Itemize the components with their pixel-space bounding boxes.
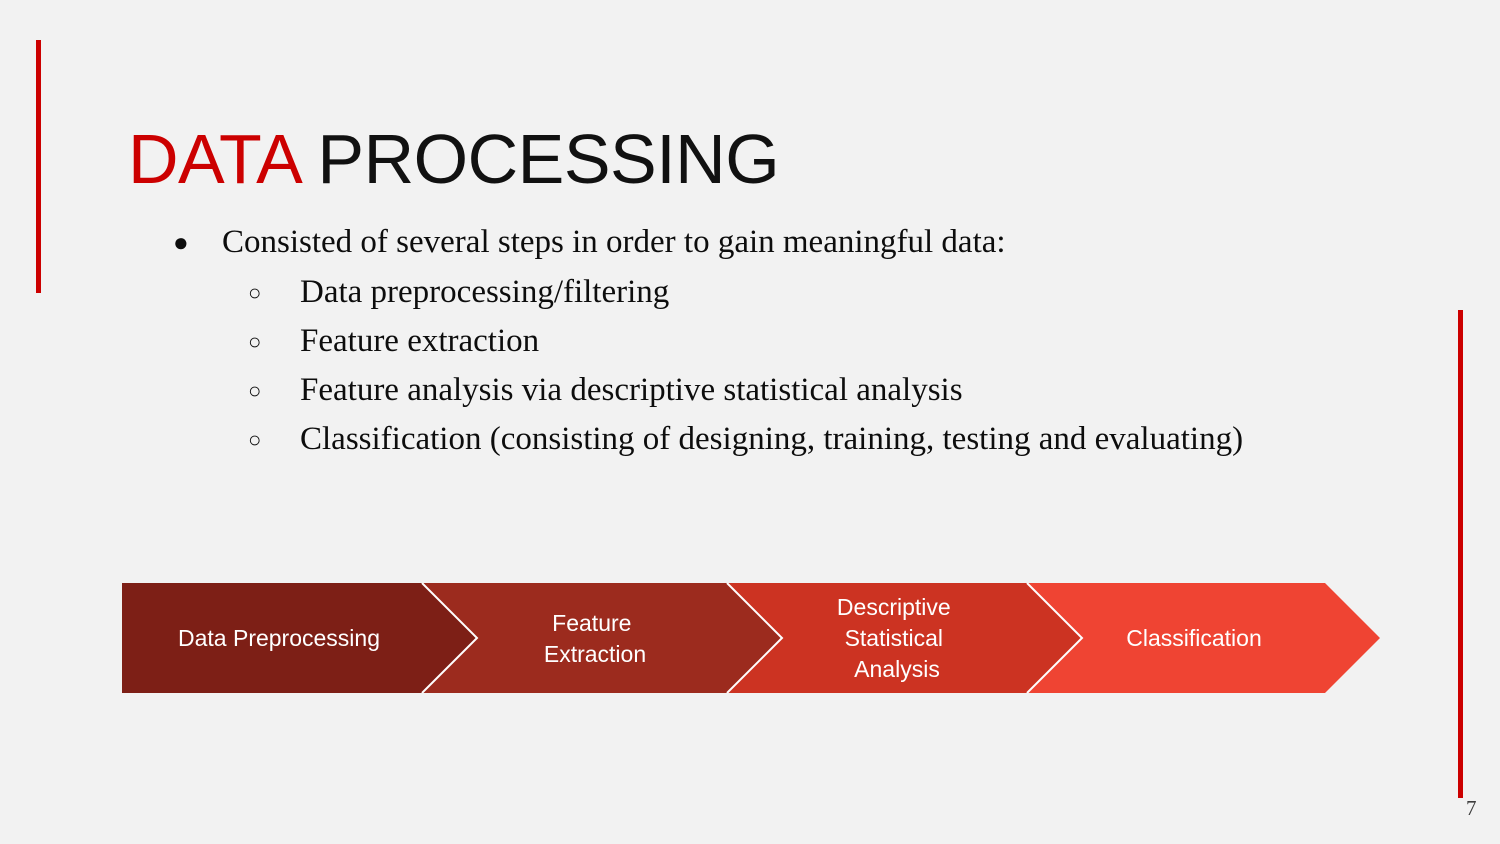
title-rest-word: PROCESSING: [298, 120, 779, 198]
process-step-label-3-line-2: Statistical: [845, 625, 943, 651]
bullet-marker-hollow-icon: ○: [248, 268, 261, 317]
process-step-label-2-line-1: Feature: [552, 610, 631, 636]
decorative-rule-left: [36, 40, 41, 293]
body-bullet-list: ● Consisted of several steps in order to…: [160, 218, 1340, 464]
sub-bullet-list: ○ Data preprocessing/filtering ○ Feature…: [160, 268, 1340, 464]
process-step-label-4: Classification: [1126, 625, 1262, 651]
process-diagram: Data Preprocessing Feature Extraction De…: [122, 583, 1380, 693]
process-step-label-1: Data Preprocessing: [178, 625, 380, 651]
bullet-item-lead: ● Consisted of several steps in order to…: [160, 218, 1340, 267]
process-step-label-3-line-3: Analysis: [854, 656, 940, 682]
sub-bullet-item-classification: ○ Classification (consisting of designin…: [160, 415, 1340, 464]
process-step-label-2-line-2: Extraction: [544, 641, 646, 667]
bullet-marker-filled-icon: ●: [173, 218, 189, 267]
sub-bullet-text-classification: Classification (consisting of designing,…: [300, 421, 1243, 457]
process-step-label-4-line-1: Classification: [1126, 625, 1262, 651]
slide-canvas: DATA PROCESSING ● Consisted of several s…: [0, 0, 1500, 844]
page-title: DATA PROCESSING: [128, 119, 779, 199]
process-step-label-3-line-1: Descriptive: [837, 594, 951, 620]
sub-bullet-text-preprocessing: Data preprocessing/filtering: [300, 274, 669, 310]
process-step-label-1-line-1: Data Preprocessing: [178, 625, 380, 651]
sub-bullet-text-feature-extraction: Feature extraction: [300, 323, 539, 359]
bullet-text-lead: Consisted of several steps in order to g…: [222, 224, 1006, 260]
page-number: 7: [1466, 798, 1477, 819]
sub-bullet-item-feature-extraction: ○ Feature extraction: [160, 317, 1340, 366]
sub-bullet-text-feature-analysis: Feature analysis via descriptive statist…: [300, 372, 963, 408]
bullet-marker-hollow-icon: ○: [248, 317, 261, 366]
bullet-marker-hollow-icon: ○: [248, 415, 261, 464]
process-step-label-3: Descriptive Statistical Analysis: [837, 594, 957, 682]
sub-bullet-item-feature-analysis: ○ Feature analysis via descriptive stati…: [160, 366, 1340, 415]
decorative-rule-right: [1458, 310, 1463, 798]
title-accent-word: DATA: [128, 120, 298, 198]
bullet-marker-hollow-icon: ○: [248, 366, 261, 415]
sub-bullet-item-preprocessing: ○ Data preprocessing/filtering: [160, 268, 1340, 317]
